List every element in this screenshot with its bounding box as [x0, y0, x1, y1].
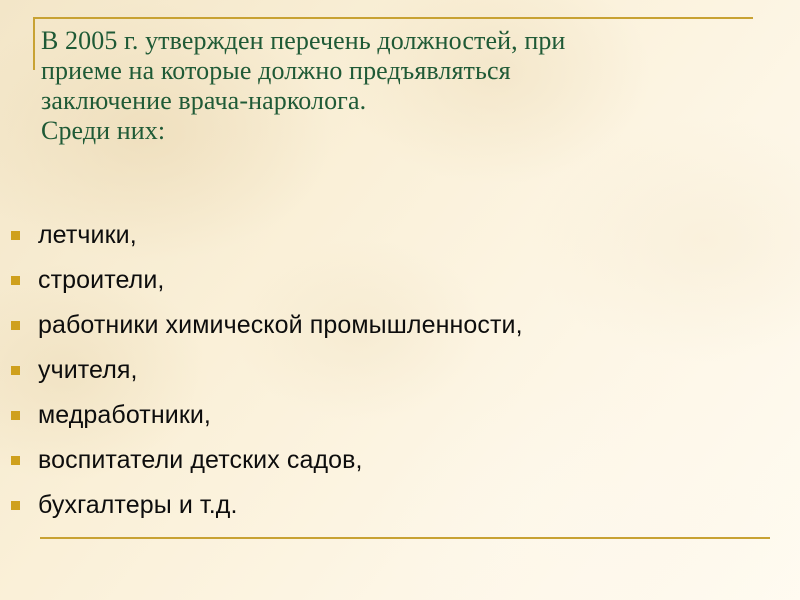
list-item-label: учителя, [38, 356, 138, 384]
gold-rule-left [33, 17, 35, 70]
list-item-label: летчики, [38, 221, 137, 249]
title-line-4: Среди них: [41, 116, 741, 146]
list-item: учителя, [0, 348, 800, 393]
title-line-2: приеме на которые должно предъявляться [41, 56, 741, 86]
title-line-1: В 2005 г. утвержден перечень должностей,… [41, 26, 741, 56]
slide-canvas: В 2005 г. утвержден перечень должностей,… [0, 0, 800, 600]
list-item: строители, [0, 258, 800, 303]
gold-rule-top [33, 17, 753, 19]
square-bullet-icon [11, 321, 20, 330]
list-item-label: воспитатели детских садов, [38, 446, 363, 474]
list-item-label: работники химической промышленности, [38, 311, 523, 339]
occupation-bullet-list: летчики, строители, работники химической… [0, 213, 800, 528]
gold-rule-bottom [40, 537, 770, 539]
list-item: медработники, [0, 393, 800, 438]
list-item-label: строители, [38, 266, 164, 294]
square-bullet-icon [11, 276, 20, 285]
square-bullet-icon [11, 411, 20, 420]
square-bullet-icon [11, 501, 20, 510]
slide-title: В 2005 г. утвержден перечень должностей,… [41, 26, 741, 146]
square-bullet-icon [11, 231, 20, 240]
list-item: воспитатели детских садов, [0, 438, 800, 483]
list-item-label: бухгалтеры и т.д. [38, 491, 238, 519]
list-item-label: медработники, [38, 401, 211, 429]
square-bullet-icon [11, 366, 20, 375]
list-item: работники химической промышленности, [0, 303, 800, 348]
list-item: бухгалтеры и т.д. [0, 483, 800, 528]
title-line-3: заключение врача-нарколога. [41, 86, 741, 116]
list-item: летчики, [0, 213, 800, 258]
square-bullet-icon [11, 456, 20, 465]
